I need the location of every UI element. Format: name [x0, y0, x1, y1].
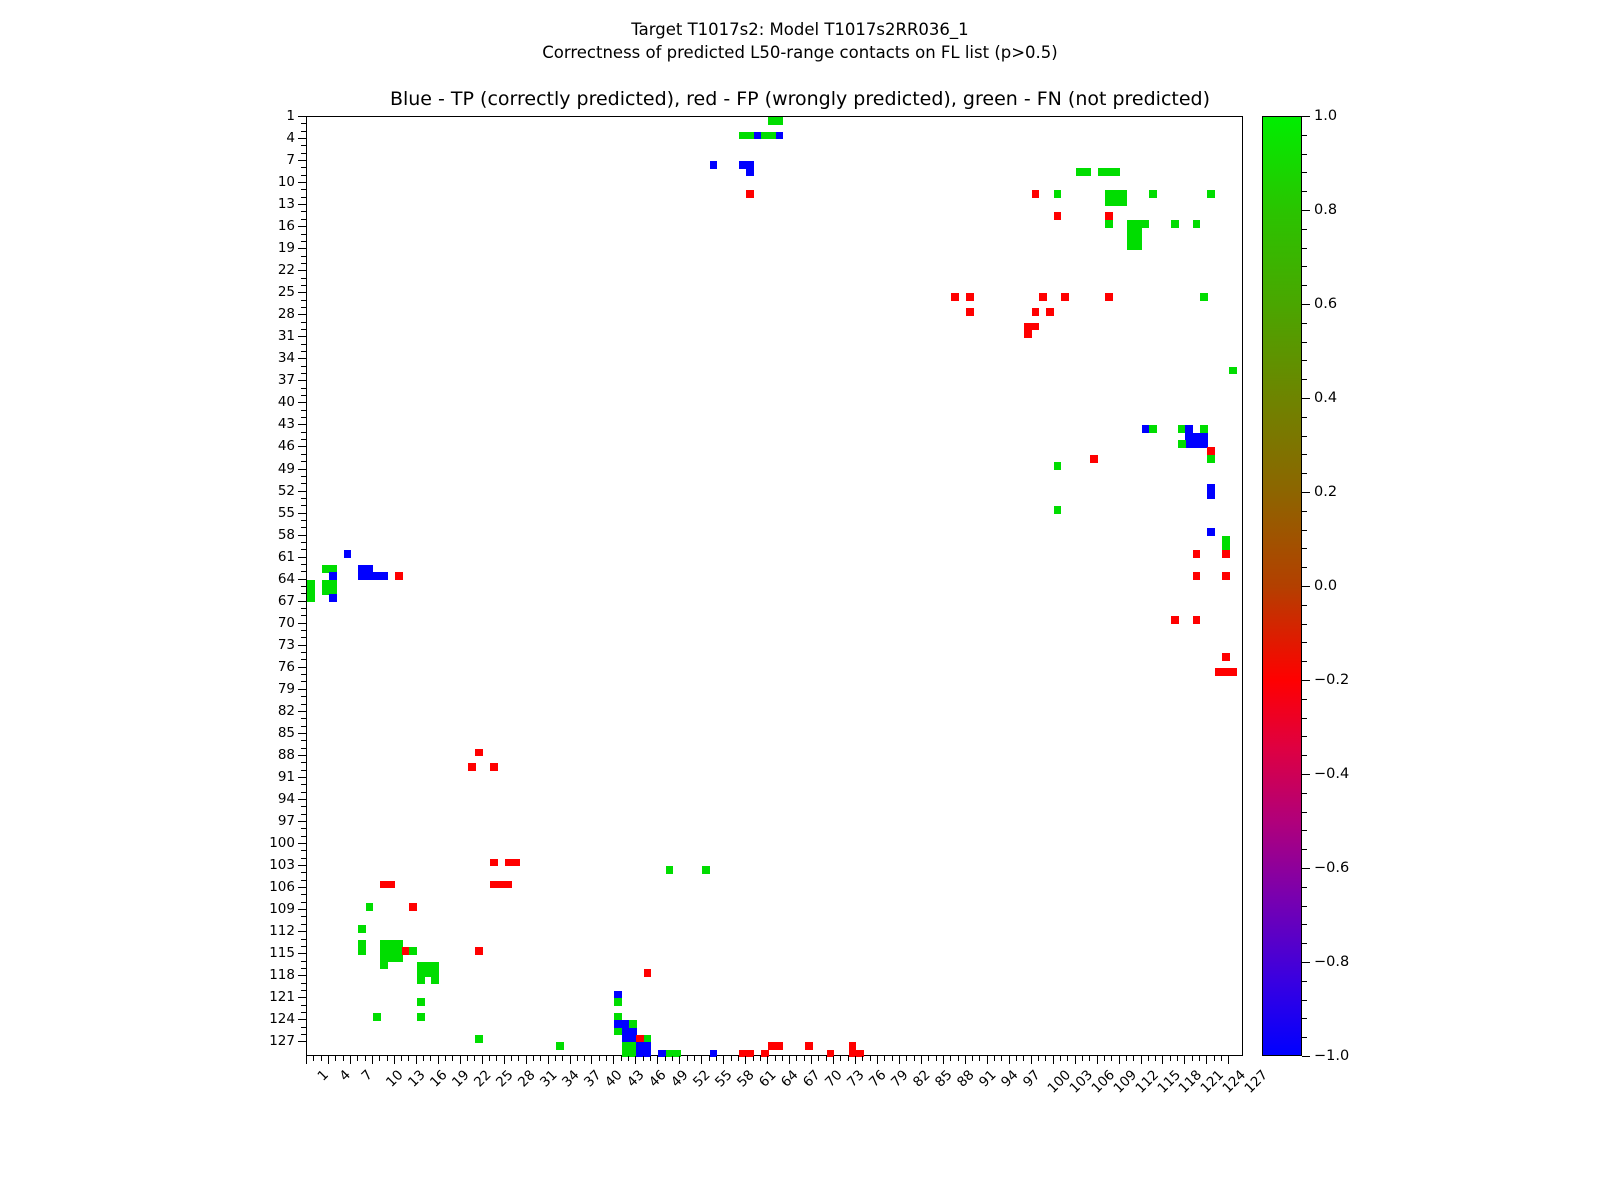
- x-tick-major: [1119, 1056, 1120, 1064]
- y-tick-label: 124: [269, 1011, 295, 1027]
- x-tick-label: 7: [358, 1067, 375, 1084]
- contact-cell: [1054, 190, 1062, 198]
- contact-cell: [1054, 462, 1062, 470]
- y-tick-major: [298, 975, 306, 976]
- contact-cell: [417, 998, 425, 1006]
- colorbar-tick-minor: [1302, 906, 1307, 907]
- contact-cell: [1054, 212, 1062, 220]
- x-tick-major: [745, 1056, 746, 1064]
- y-tick-label: 46: [278, 438, 295, 454]
- x-tick-major: [833, 1056, 834, 1064]
- contact-cell: [1127, 220, 1142, 242]
- contact-cell: [373, 1013, 381, 1021]
- x-tick-minor: [577, 1056, 578, 1061]
- colorbar-tick-label: 0.2: [1314, 484, 1337, 500]
- colorbar-tick-minor: [1302, 736, 1307, 737]
- x-tick-major: [679, 1056, 680, 1064]
- y-tick-label: 103: [269, 857, 295, 873]
- y-tick-major: [298, 270, 306, 271]
- contact-cell: [380, 881, 395, 889]
- x-tick-minor: [379, 1056, 380, 1061]
- y-tick-major: [298, 535, 306, 536]
- x-tick-major: [438, 1056, 439, 1064]
- x-tick-label: 10: [383, 1067, 406, 1090]
- x-tick-major: [657, 1056, 658, 1064]
- y-tick-major: [298, 446, 306, 447]
- y-tick-major: [298, 843, 306, 844]
- y-tick-label: 70: [278, 615, 295, 631]
- colorbar-tick-major: [1302, 398, 1310, 399]
- contact-cell: [614, 998, 622, 1006]
- contact-cell: [490, 859, 498, 867]
- colorbar-tick-minor: [1302, 624, 1307, 625]
- x-tick-minor: [518, 1056, 519, 1061]
- colorbar-tick-minor: [1302, 567, 1307, 568]
- x-tick-label: 22: [471, 1067, 494, 1090]
- y-tick-major: [298, 1019, 306, 1020]
- x-tick-major: [570, 1056, 571, 1064]
- contact-cell: [1229, 367, 1237, 375]
- contact-cell: [358, 925, 366, 933]
- contact-cell: [1024, 330, 1032, 338]
- x-tick-minor: [650, 1056, 651, 1061]
- x-tick-minor: [357, 1056, 358, 1061]
- x-tick-minor: [365, 1056, 366, 1061]
- y-tick-label: 94: [278, 791, 295, 807]
- colorbar-tick-label: 1.0: [1314, 108, 1337, 124]
- y-tick-label: 118: [269, 967, 295, 983]
- contact-cell: [431, 976, 439, 984]
- x-tick-major: [877, 1056, 878, 1064]
- x-tick-minor: [775, 1056, 776, 1061]
- y-tick-major: [298, 865, 306, 866]
- y-tick-label: 76: [278, 659, 295, 675]
- x-tick-label: 49: [668, 1067, 691, 1090]
- x-tick-minor: [672, 1056, 673, 1061]
- x-tick-minor: [1221, 1056, 1222, 1061]
- x-tick-label: 52: [690, 1067, 713, 1090]
- x-tick-minor: [796, 1056, 797, 1061]
- y-tick-major: [298, 623, 306, 624]
- contact-cell: [417, 976, 425, 984]
- x-tick-minor: [452, 1056, 453, 1061]
- y-tick-label: 4: [286, 130, 295, 146]
- contact-cell: [1207, 528, 1215, 536]
- x-tick-minor: [687, 1056, 688, 1061]
- x-tick-minor: [826, 1056, 827, 1061]
- colorbar-tick-label: 0.4: [1314, 390, 1337, 406]
- contact-cell: [1149, 425, 1157, 433]
- x-tick-minor: [1177, 1056, 1178, 1061]
- x-tick-minor: [950, 1056, 951, 1061]
- contact-cell: [1185, 433, 1207, 448]
- x-tick-major: [394, 1056, 395, 1064]
- contact-cell: [475, 1035, 483, 1043]
- x-tick-label: 13: [405, 1067, 428, 1090]
- x-tick-minor: [848, 1056, 849, 1061]
- x-tick-major: [504, 1056, 505, 1064]
- y-tick-major: [298, 953, 306, 954]
- x-tick-label: 61: [756, 1067, 779, 1090]
- x-tick-label: 76: [866, 1067, 889, 1090]
- contact-cell: [1222, 653, 1230, 661]
- contact-cell: [1222, 550, 1230, 558]
- colorbar-tick-minor: [1302, 530, 1307, 531]
- y-tick-major: [298, 358, 306, 359]
- x-tick-minor: [423, 1056, 424, 1061]
- contact-cell: [475, 947, 483, 955]
- x-tick-minor: [994, 1056, 995, 1061]
- x-tick-minor: [1170, 1056, 1171, 1061]
- x-tick-minor: [321, 1056, 322, 1061]
- contact-cell: [1127, 242, 1142, 250]
- y-tick-major: [298, 336, 306, 337]
- y-tick-major: [298, 380, 306, 381]
- x-tick-label: 79: [888, 1067, 911, 1090]
- x-tick-minor: [606, 1056, 607, 1061]
- colorbar-tick-minor: [1302, 417, 1307, 418]
- x-tick-major: [811, 1056, 812, 1064]
- contact-cell: [739, 132, 754, 140]
- x-tick-label: 34: [559, 1067, 582, 1090]
- x-tick-label: 37: [581, 1067, 604, 1090]
- contact-cell: [417, 1013, 425, 1021]
- x-tick-major: [921, 1056, 922, 1064]
- y-tick-major: [298, 645, 306, 646]
- contact-cell: [622, 1028, 637, 1043]
- contact-cell: [1046, 308, 1054, 316]
- y-tick-label: 16: [278, 218, 295, 234]
- contact-cell: [409, 903, 417, 911]
- y-tick-label: 88: [278, 747, 295, 763]
- x-tick-major: [899, 1056, 900, 1064]
- colorbar[interactable]: 1.00.80.60.40.20.0−0.2−0.4−0.6−0.8−1.0: [1262, 116, 1302, 1056]
- colorbar-tick-major: [1302, 304, 1310, 305]
- x-tick-minor: [979, 1056, 980, 1061]
- contact-cell: [966, 308, 974, 316]
- x-tick-minor: [467, 1056, 468, 1061]
- x-tick-minor: [1038, 1056, 1039, 1061]
- colorbar-tick-minor: [1302, 360, 1307, 361]
- contact-cell: [1076, 168, 1091, 176]
- y-tick-major: [298, 513, 306, 514]
- x-tick-major: [1228, 1056, 1229, 1064]
- y-tick-major: [298, 601, 306, 602]
- colorbar-tick-minor: [1302, 943, 1307, 944]
- x-tick-minor: [906, 1056, 907, 1061]
- colorbar-gradient: [1262, 116, 1302, 1056]
- y-tick-label: 28: [278, 306, 295, 322]
- x-tick-minor: [716, 1056, 717, 1061]
- y-tick-label: 109: [269, 901, 295, 917]
- x-tick-minor: [555, 1056, 556, 1061]
- colorbar-tick-major: [1302, 116, 1310, 117]
- x-tick-minor: [782, 1056, 783, 1061]
- contact-cell: [1222, 536, 1230, 551]
- x-tick-minor: [760, 1056, 761, 1061]
- x-tick-major: [548, 1056, 549, 1064]
- contact-cell: [702, 866, 710, 874]
- colorbar-tick-minor: [1302, 342, 1307, 343]
- colorbar-tick-minor: [1302, 436, 1307, 437]
- x-tick-label: 46: [646, 1067, 669, 1090]
- x-tick-minor: [1111, 1056, 1112, 1061]
- contact-cell: [468, 763, 476, 771]
- colorbar-tick-minor: [1302, 1000, 1307, 1001]
- x-tick-minor: [914, 1056, 915, 1061]
- colorbar-tick-minor: [1302, 266, 1307, 267]
- y-tick-major: [298, 755, 306, 756]
- contact-cell: [1193, 616, 1201, 624]
- x-tick-major: [723, 1056, 724, 1064]
- y-tick-label: 13: [278, 196, 295, 212]
- contact-cell: [1032, 190, 1040, 198]
- contact-cell: [768, 117, 783, 125]
- contact-cell: [1061, 293, 1069, 301]
- y-tick-label: 82: [278, 703, 295, 719]
- colorbar-tick-minor: [1302, 135, 1307, 136]
- contact-cell: [1142, 220, 1150, 228]
- contact-cell: [1105, 220, 1113, 228]
- colorbar-tick-minor: [1302, 154, 1307, 155]
- y-tick-major: [298, 138, 306, 139]
- x-tick-minor: [972, 1056, 973, 1061]
- contact-cell: [761, 132, 776, 140]
- colorbar-tick-minor: [1302, 830, 1307, 831]
- contact-cell: [746, 190, 754, 198]
- x-tick-minor: [804, 1056, 805, 1061]
- colorbar-tick-minor: [1302, 511, 1307, 512]
- x-tick-minor: [533, 1056, 534, 1061]
- contact-cell: [1149, 190, 1157, 198]
- y-tick-major: [298, 711, 306, 712]
- colorbar-tick-minor: [1302, 454, 1307, 455]
- x-tick-major: [350, 1056, 351, 1064]
- y-tick-major: [298, 887, 306, 888]
- contact-cell: [490, 763, 498, 771]
- contact-cell: [417, 962, 439, 977]
- y-tick-major: [298, 931, 306, 932]
- y-tick-label: 34: [278, 350, 295, 366]
- colorbar-tick-label: 0.6: [1314, 296, 1337, 312]
- contact-cell: [1193, 572, 1201, 580]
- y-tick-label: 22: [278, 262, 295, 278]
- y-tick-label: 52: [278, 483, 295, 499]
- colorbar-tick-minor: [1302, 191, 1307, 192]
- contact-cell: [1193, 220, 1201, 228]
- colorbar-tick-minor: [1302, 642, 1307, 643]
- colorbar-tick-minor: [1302, 323, 1307, 324]
- colorbar-tick-minor: [1302, 812, 1307, 813]
- x-tick-minor: [1001, 1056, 1002, 1061]
- colorbar-tick-minor: [1302, 605, 1307, 606]
- colorbar-tick-minor: [1302, 755, 1307, 756]
- colorbar-tick-minor: [1302, 379, 1307, 380]
- x-tick-major: [591, 1056, 592, 1064]
- x-tick-label: 43: [624, 1067, 647, 1090]
- colorbar-tick-label: −0.8: [1314, 954, 1349, 970]
- x-tick-minor: [731, 1056, 732, 1061]
- x-tick-minor: [1126, 1056, 1127, 1061]
- x-tick-minor: [1067, 1056, 1068, 1061]
- x-tick-label: 82: [910, 1067, 933, 1090]
- y-tick-major: [298, 116, 306, 117]
- y-tick-label: 127: [269, 1033, 295, 1049]
- colorbar-tick-minor: [1302, 1037, 1307, 1038]
- x-tick-minor: [584, 1056, 585, 1061]
- colorbar-tick-minor: [1302, 1018, 1307, 1019]
- colorbar-tick-major: [1302, 680, 1310, 681]
- contact-cell: [329, 594, 337, 602]
- colorbar-tick-major: [1302, 774, 1310, 775]
- x-tick-minor: [1060, 1056, 1061, 1061]
- contact-map-plot[interactable]: [306, 116, 1243, 1056]
- y-tick-major: [298, 733, 306, 734]
- x-tick-minor: [474, 1056, 475, 1061]
- y-tick-label: 73: [278, 637, 295, 653]
- contact-cell: [366, 903, 374, 911]
- y-tick-major: [298, 182, 306, 183]
- x-tick-minor: [862, 1056, 863, 1061]
- x-tick-label: 28: [515, 1067, 538, 1090]
- y-tick-label: 97: [278, 813, 295, 829]
- x-tick-label: 40: [603, 1067, 626, 1090]
- x-tick-label: 25: [493, 1067, 516, 1090]
- x-tick-major: [460, 1056, 461, 1064]
- contact-cell: [1171, 616, 1179, 624]
- y-tick-label: 37: [278, 372, 295, 388]
- y-tick-major: [298, 204, 306, 205]
- x-tick-minor: [958, 1056, 959, 1061]
- x-tick-minor: [496, 1056, 497, 1061]
- x-tick-major: [1162, 1056, 1163, 1064]
- colorbar-tick-label: −0.6: [1314, 860, 1349, 876]
- y-tick-major: [298, 424, 306, 425]
- x-tick-label: 67: [800, 1067, 823, 1090]
- x-tick-minor: [1192, 1056, 1193, 1061]
- contact-cell: [1222, 572, 1230, 580]
- y-tick-label: 19: [278, 240, 295, 256]
- contact-cell: [380, 940, 402, 962]
- colorbar-tick-minor: [1302, 172, 1307, 173]
- y-tick-label: 40: [278, 394, 295, 410]
- x-tick-minor: [540, 1056, 541, 1061]
- x-tick-label: 31: [537, 1067, 560, 1090]
- colorbar-tick-minor: [1302, 699, 1307, 700]
- x-tick-label: 1: [315, 1067, 332, 1084]
- x-tick-major: [767, 1056, 768, 1064]
- x-tick-minor: [621, 1056, 622, 1061]
- colorbar-tick-label: −1.0: [1314, 1048, 1349, 1064]
- contact-cell: [710, 161, 718, 169]
- y-tick-label: 31: [278, 328, 295, 344]
- contact-cell: [395, 572, 403, 580]
- x-tick-minor: [489, 1056, 490, 1061]
- contact-cell: [1178, 440, 1186, 448]
- y-tick-label: 79: [278, 681, 295, 697]
- x-tick-minor: [643, 1056, 644, 1061]
- x-tick-major: [1031, 1056, 1032, 1064]
- x-tick-minor: [387, 1056, 388, 1061]
- contact-cell: [505, 859, 520, 867]
- colorbar-tick-minor: [1302, 473, 1307, 474]
- x-tick-minor: [936, 1056, 937, 1061]
- colorbar-tick-minor: [1302, 981, 1307, 982]
- y-tick-major: [298, 314, 306, 315]
- y-tick-major: [298, 160, 306, 161]
- y-tick-major: [298, 689, 306, 690]
- x-tick-label: 4: [336, 1067, 353, 1084]
- colorbar-tick-label: −0.4: [1314, 766, 1349, 782]
- colorbar-tick-label: 0.0: [1314, 578, 1337, 594]
- colorbar-tick-major: [1302, 586, 1310, 587]
- x-tick-minor: [1104, 1056, 1105, 1061]
- y-tick-major: [298, 667, 306, 668]
- x-tick-minor: [665, 1056, 666, 1061]
- contact-cell-layer: [307, 117, 1242, 1055]
- x-tick-minor: [1214, 1056, 1215, 1061]
- x-tick-minor: [511, 1056, 512, 1061]
- contact-cell: [1039, 293, 1047, 301]
- contact-cell: [768, 1042, 783, 1050]
- y-tick-label: 64: [278, 571, 295, 587]
- x-tick-minor: [1089, 1056, 1090, 1061]
- y-tick-label: 115: [269, 945, 295, 961]
- colorbar-tick-minor: [1302, 924, 1307, 925]
- y-tick-major: [298, 821, 306, 822]
- x-tick-minor: [335, 1056, 336, 1061]
- x-tick-major: [1184, 1056, 1185, 1064]
- y-tick-label: 55: [278, 505, 295, 521]
- x-tick-major: [306, 1056, 307, 1064]
- chart-legend-caption: Blue - TP (correctly predicted), red - F…: [0, 88, 1600, 110]
- contact-cell: [344, 550, 352, 558]
- x-tick-major: [965, 1056, 966, 1064]
- colorbar-tick-minor: [1302, 793, 1307, 794]
- y-tick-major: [298, 248, 306, 249]
- y-tick-label: 112: [269, 923, 295, 939]
- x-tick-minor: [884, 1056, 885, 1061]
- contact-cell: [1215, 668, 1237, 676]
- x-tick-major: [526, 1056, 527, 1064]
- contact-cell: [966, 293, 974, 301]
- contact-cell: [805, 1042, 813, 1050]
- x-tick-minor: [430, 1056, 431, 1061]
- colorbar-tick-label: 0.8: [1314, 202, 1337, 218]
- contact-cell: [505, 881, 513, 889]
- x-tick-major: [701, 1056, 702, 1064]
- colorbar-tick-major: [1302, 492, 1310, 493]
- x-tick-label: 91: [976, 1067, 999, 1090]
- chart-title-line-1: Target T1017s2: Model T1017s2RR036_1: [0, 18, 1600, 41]
- y-tick-major: [298, 1041, 306, 1042]
- colorbar-tick-minor: [1302, 548, 1307, 549]
- y-tick-label: 10: [278, 174, 295, 190]
- x-tick-minor: [313, 1056, 314, 1061]
- y-tick-label: 58: [278, 527, 295, 543]
- x-tick-minor: [562, 1056, 563, 1061]
- x-tick-major: [789, 1056, 790, 1064]
- contact-cell: [373, 572, 388, 580]
- y-axis: 1471013161922252831343740434649525558616…: [0, 116, 306, 1056]
- contact-cell: [358, 940, 366, 955]
- x-tick-label: 85: [932, 1067, 955, 1090]
- x-axis: 1471013161922252831343740434649525558616…: [306, 1056, 1243, 1176]
- y-tick-label: 1: [286, 108, 295, 124]
- colorbar-tick-minor: [1302, 849, 1307, 850]
- colorbar-tick-minor: [1302, 661, 1307, 662]
- x-tick-minor: [738, 1056, 739, 1061]
